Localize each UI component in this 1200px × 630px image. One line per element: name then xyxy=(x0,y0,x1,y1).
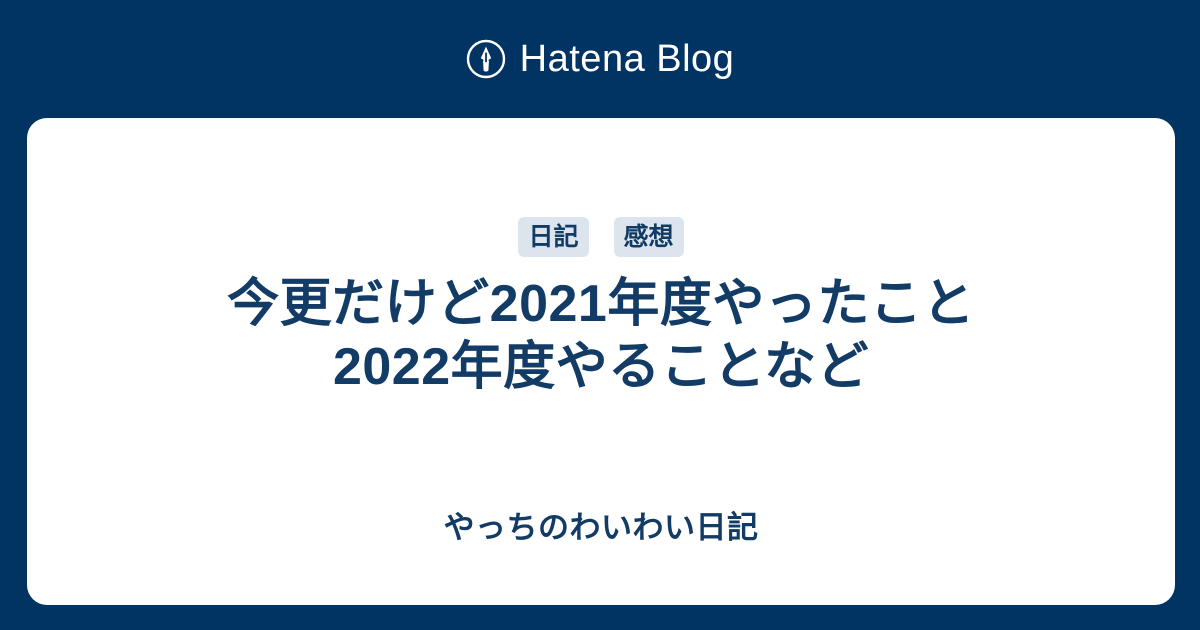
blog-name: やっちのわいわい日記 xyxy=(27,509,1175,548)
entry-card: 日記 感想 今更だけど2021年度やったこと 2022年度やることなど やっちの… xyxy=(27,118,1175,605)
entry-title-line: 2022年度やることなど xyxy=(227,336,975,399)
hatena-blog-brand-bar: Hatena Blog xyxy=(0,0,1200,118)
entry-title: 今更だけど2021年度やったこと 2022年度やることなど xyxy=(227,273,975,400)
hatena-pen-nib-icon xyxy=(466,39,506,79)
ogp-card-root: Hatena Blog 日記 感想 今更だけど2021年度やったこと 2022年… xyxy=(0,0,1200,630)
entry-tag-list: 日記 感想 xyxy=(518,217,683,257)
entry-tag[interactable]: 感想 xyxy=(614,217,684,257)
hatena-blog-wordmark: Hatena Blog xyxy=(520,40,735,78)
entry-title-line: 今更だけど2021年度やったこと xyxy=(227,273,975,336)
entry-tag[interactable]: 日記 xyxy=(518,217,588,257)
